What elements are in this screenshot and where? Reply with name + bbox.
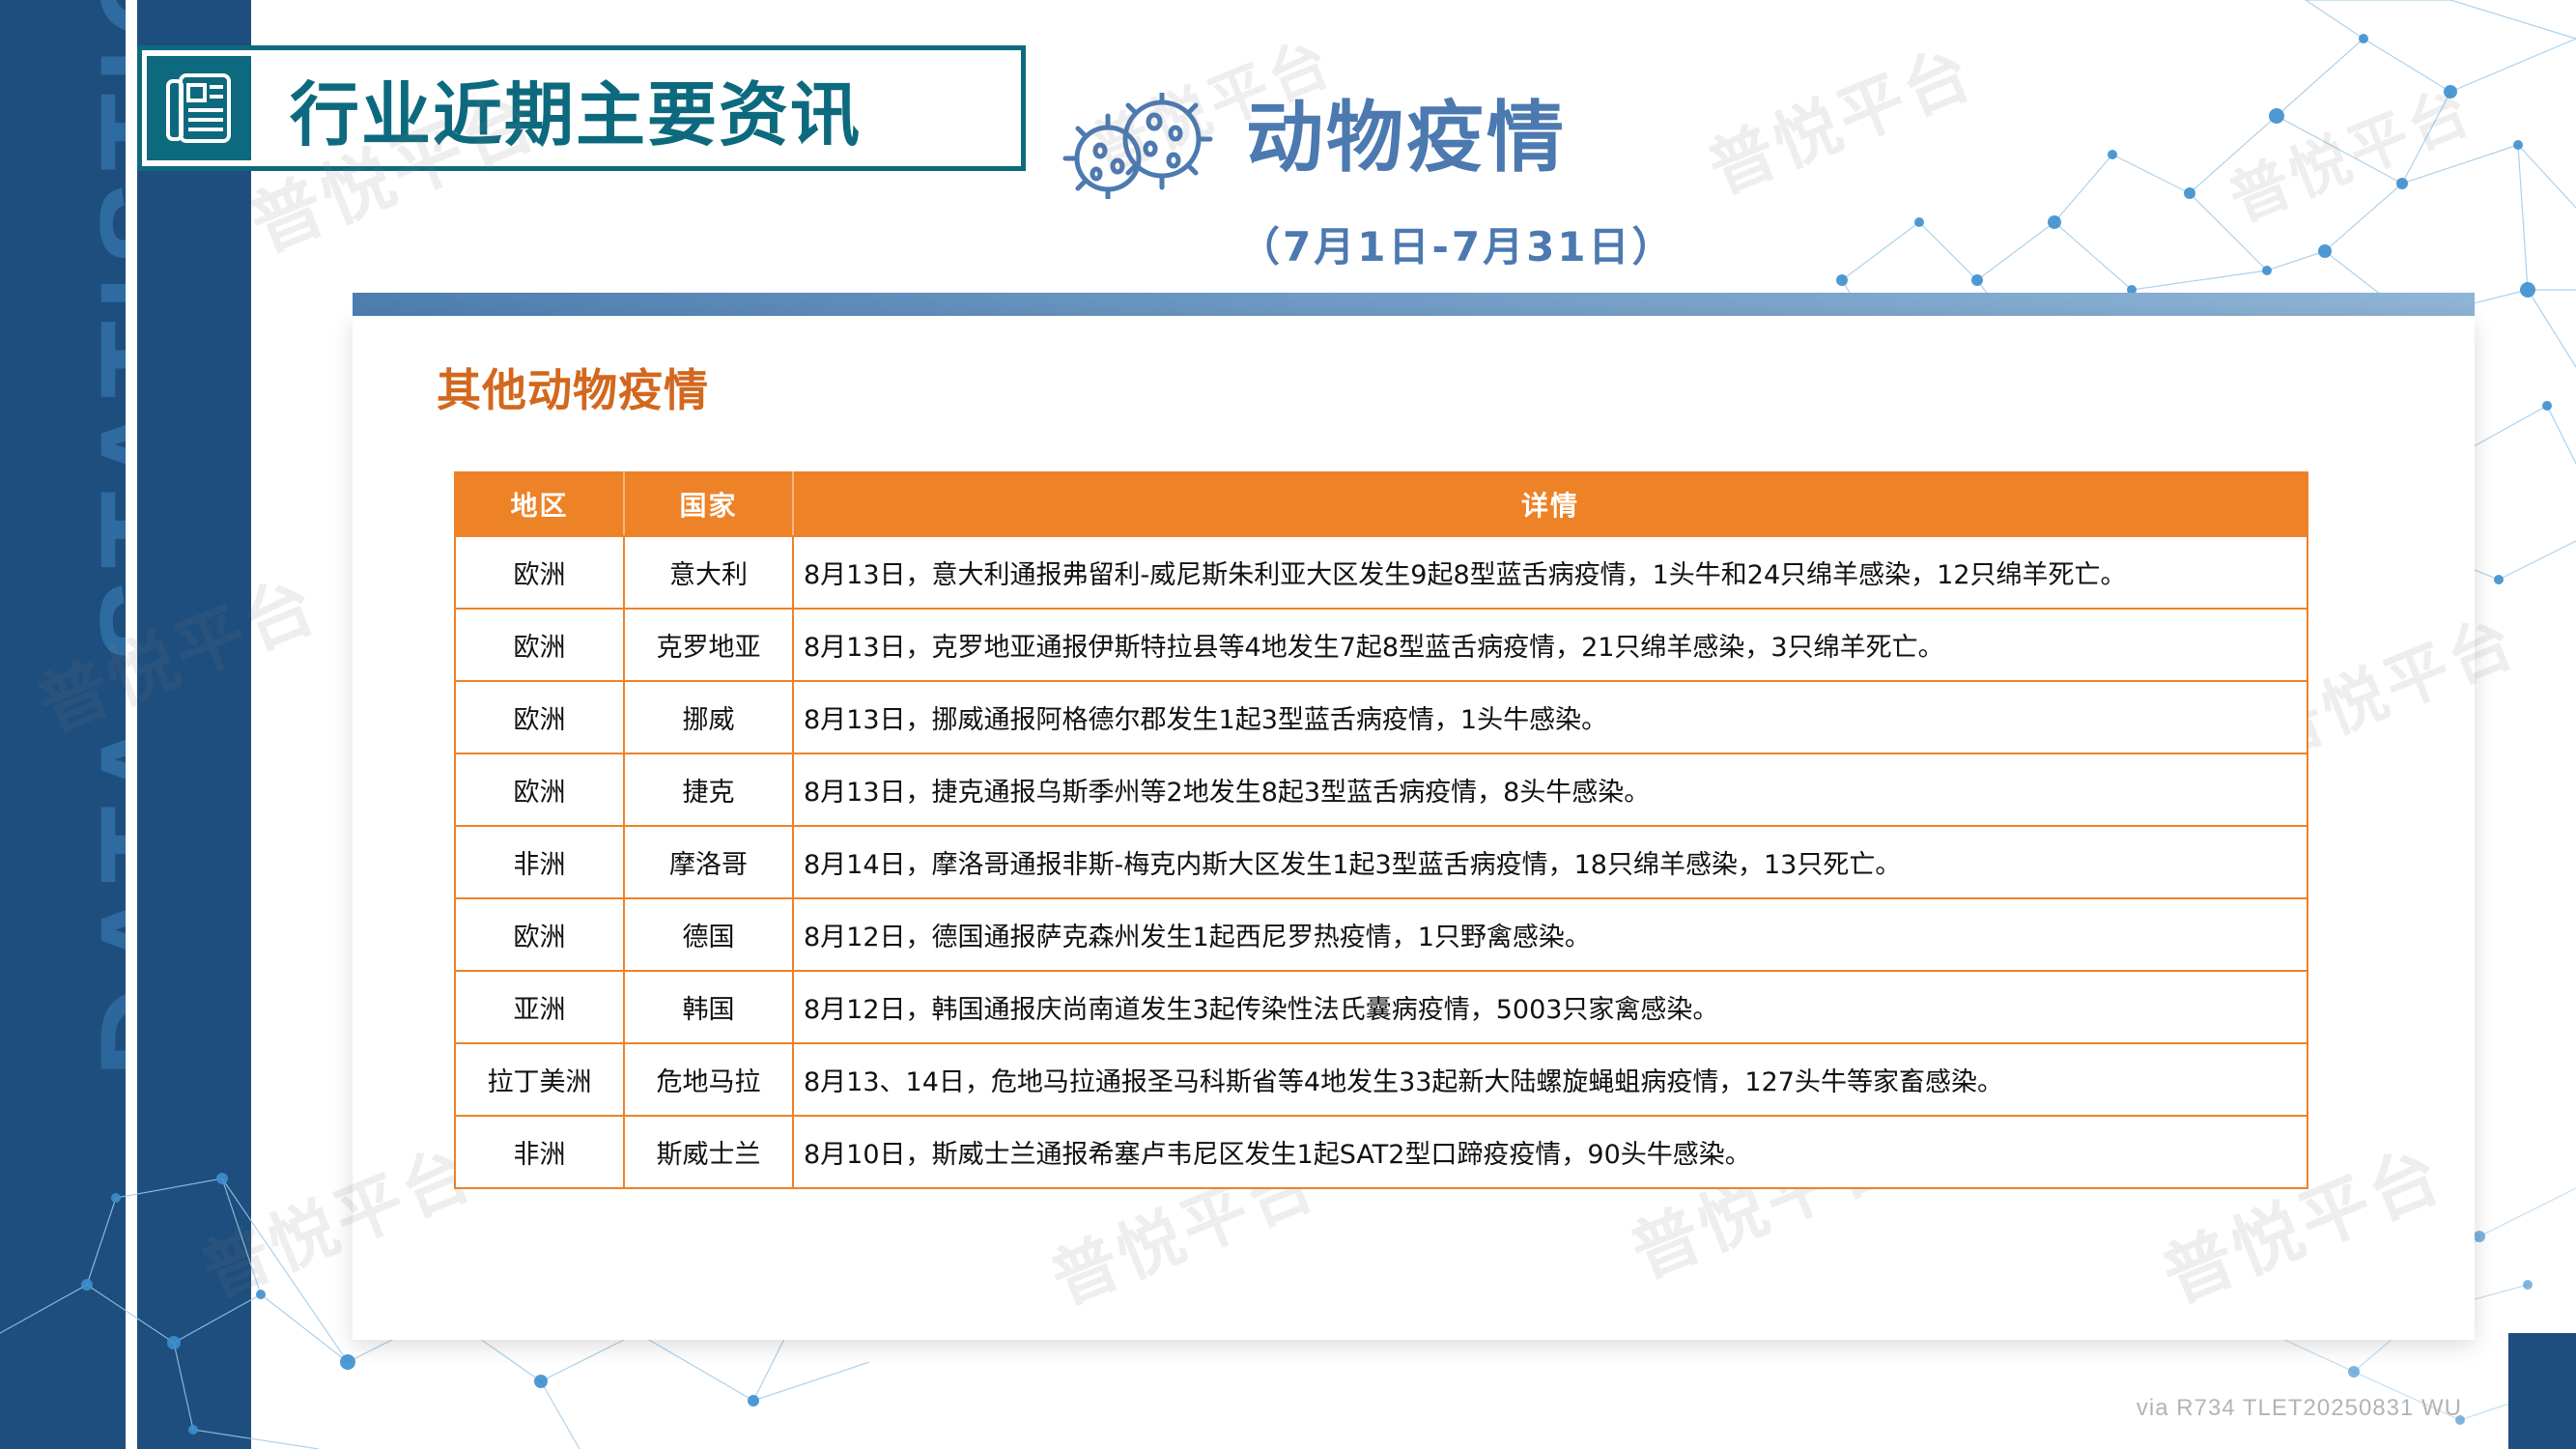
newspaper-icon: [147, 56, 251, 160]
cell-country: 斯威士兰: [624, 1116, 793, 1188]
cell-region: 非洲: [455, 826, 624, 898]
cell-detail: 8月14日，摩洛哥通报非斯-梅克内斯大区发生1起3型蓝舌病疫情，18只绵羊感染，…: [793, 826, 2307, 898]
cell-country: 克罗地亚: [624, 609, 793, 681]
table-row: 欧洲德国8月12日，德国通报萨克森州发生1起西尼罗热疫情，1只野禽感染。: [455, 898, 2307, 971]
cell-detail: 8月13日，捷克通报乌斯季州等2地发生8起3型蓝舌病疫情，8头牛感染。: [793, 753, 2307, 826]
table-header: 地区 国家 详情: [455, 472, 2307, 536]
cell-region: 非洲: [455, 1116, 624, 1188]
table-row: 欧洲意大利8月13日，意大利通报弗留利-威尼斯朱利亚大区发生9起8型蓝舌病疫情，…: [455, 536, 2307, 609]
cell-detail: 8月13、14日，危地马拉通报圣马科斯省等4地发生33起新大陆螺旋蝇蛆病疫情，1…: [793, 1043, 2307, 1116]
column-header-region: 地区: [455, 472, 624, 536]
cell-detail: 8月13日，意大利通报弗留利-威尼斯朱利亚大区发生9起8型蓝舌病疫情，1头牛和2…: [793, 536, 2307, 609]
card-top-accent-bar: [353, 293, 2475, 316]
cell-country: 摩洛哥: [624, 826, 793, 898]
sidebar-vertical-label: DATA STATISTICS REPORT: [72, 0, 127, 1078]
topic-date-range: （7月1日-7月31日）: [1239, 214, 1676, 273]
watermark: 普悦平台: [2215, 62, 2484, 238]
column-header-detail: 详情: [793, 472, 2307, 536]
sidebar-white-divider: [126, 0, 137, 1449]
epidemic-table: 地区 国家 详情 欧洲意大利8月13日，意大利通报弗留利-威尼斯朱利亚大区发生9…: [454, 471, 2308, 1189]
right-bottom-navy-block: [2508, 1333, 2576, 1449]
cell-country: 意大利: [624, 536, 793, 609]
footer-note: via R734 TLET20250831 WU: [2137, 1395, 2462, 1422]
cell-region: 欧洲: [455, 898, 624, 971]
page-title: 行业近期主要资讯: [290, 56, 862, 160]
cell-region: 拉丁美洲: [455, 1043, 624, 1116]
cell-region: 欧洲: [455, 536, 624, 609]
cell-region: 欧洲: [455, 609, 624, 681]
cell-region: 欧洲: [455, 681, 624, 753]
sidebar-band: DATA STATISTICS REPORT: [0, 0, 126, 1449]
cell-country: 捷克: [624, 753, 793, 826]
watermark: 普悦平台: [1692, 19, 1986, 213]
table-row: 欧洲挪威8月13日，挪威通报阿格德尔郡发生1起3型蓝舌病疫情，1头牛感染。: [455, 681, 2307, 753]
topic-title: 动物疫情: [1246, 75, 1567, 187]
section-title: 其他动物疫情: [437, 355, 709, 419]
cell-country: 韩国: [624, 971, 793, 1043]
table-body: 欧洲意大利8月13日，意大利通报弗留利-威尼斯朱利亚大区发生9起8型蓝舌病疫情，…: [455, 536, 2307, 1188]
epidemic-table-wrapper: 地区 国家 详情 欧洲意大利8月13日，意大利通报弗留利-威尼斯朱利亚大区发生9…: [454, 471, 2308, 1189]
cell-detail: 8月12日，德国通报萨克森州发生1起西尼罗热疫情，1只野禽感染。: [793, 898, 2307, 971]
cell-detail: 8月13日，克罗地亚通报伊斯特拉县等4地发生7起8型蓝舌病疫情，21只绵羊感染，…: [793, 609, 2307, 681]
cell-country: 挪威: [624, 681, 793, 753]
table-row: 非洲斯威士兰8月10日，斯威士兰通报希塞卢韦尼区发生1起SAT2型口蹄疫疫情，9…: [455, 1116, 2307, 1188]
table-header-row: 地区 国家 详情: [455, 472, 2307, 536]
slide-root: DATA STATISTICS REPORT: [0, 0, 2576, 1449]
table-row: 拉丁美洲危地马拉8月13、14日，危地马拉通报圣马科斯省等4地发生33起新大陆螺…: [455, 1043, 2307, 1116]
table-row: 非洲摩洛哥8月14日，摩洛哥通报非斯-梅克内斯大区发生1起3型蓝舌病疫情，18只…: [455, 826, 2307, 898]
cell-detail: 8月13日，挪威通报阿格德尔郡发生1起3型蓝舌病疫情，1头牛感染。: [793, 681, 2307, 753]
cell-country: 危地马拉: [624, 1043, 793, 1116]
table-row: 欧洲克罗地亚8月13日，克罗地亚通报伊斯特拉县等4地发生7起8型蓝舌病疫情，21…: [455, 609, 2307, 681]
table-row: 亚洲韩国8月12日，韩国通报庆尚南道发生3起传染性法氏囊病疫情，5003只家禽感…: [455, 971, 2307, 1043]
cell-country: 德国: [624, 898, 793, 971]
sidebar-band-inner: [137, 0, 251, 1449]
column-header-country: 国家: [624, 472, 793, 536]
cell-detail: 8月12日，韩国通报庆尚南道发生3起传染性法氏囊病疫情，5003只家禽感染。: [793, 971, 2307, 1043]
cell-detail: 8月10日，斯威士兰通报希塞卢韦尼区发生1起SAT2型口蹄疫疫情，90头牛感染。: [793, 1116, 2307, 1188]
cell-region: 欧洲: [455, 753, 624, 826]
table-row: 欧洲捷克8月13日，捷克通报乌斯季州等2地发生8起3型蓝舌病疫情，8头牛感染。: [455, 753, 2307, 826]
cell-region: 亚洲: [455, 971, 624, 1043]
virus-icon: [1058, 93, 1227, 199]
